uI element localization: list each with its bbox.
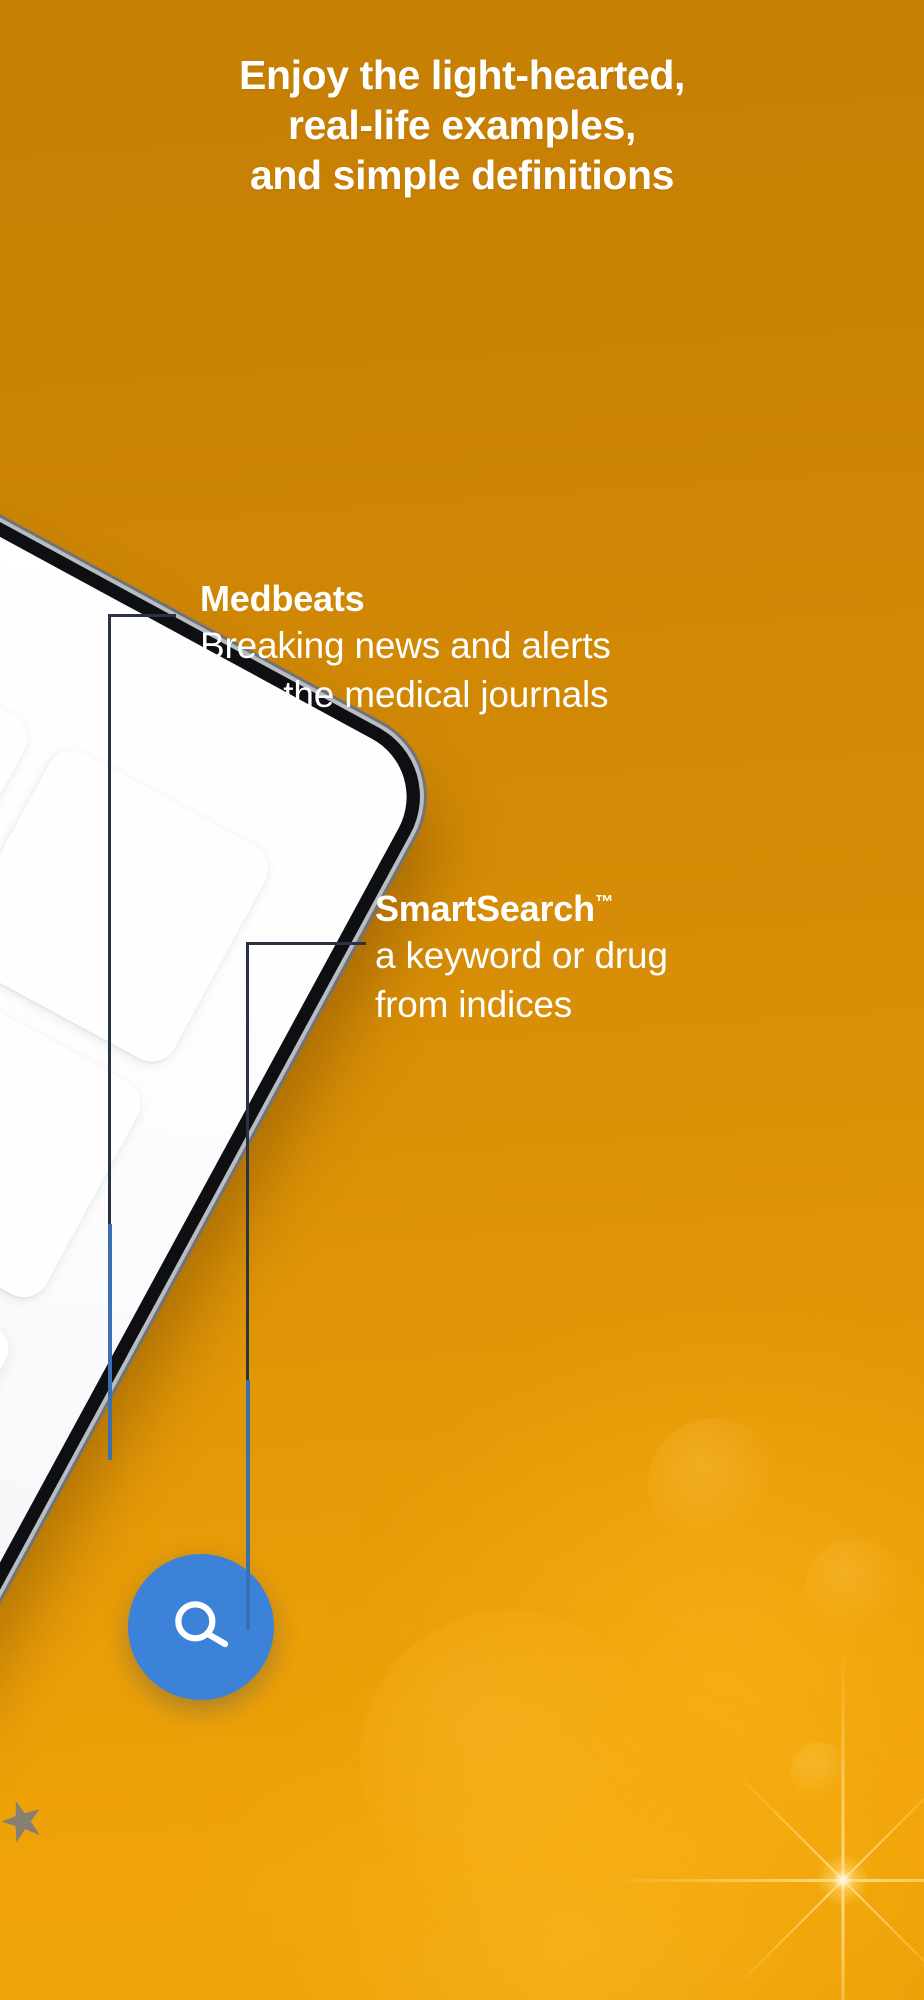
callout-description-line-2: from indices (375, 984, 572, 1025)
promo-screenshot: Enjoy the light-hearted, real-life examp… (0, 0, 924, 2000)
callout-description-line-1: a keyword or drug (375, 935, 668, 976)
callout-medbeats: Medbeats Breaking news and alerts from t… (200, 578, 720, 720)
leader-line-medbeats-vertical (108, 614, 111, 1224)
leader-line-smartsearch-blue (246, 1380, 250, 1630)
callout-title-text: Medbeats (200, 578, 364, 619)
callout-smartsearch: SmartSearch™ a keyword or drug from indi… (375, 888, 795, 1030)
leader-line-smartsearch-vertical (246, 942, 249, 1380)
background-orb (648, 1418, 780, 1550)
background-orb (360, 1610, 660, 1910)
headline-line-2: real-life examples, (0, 100, 924, 150)
leader-line-medbeats-horizontal (110, 614, 176, 617)
callout-description: a keyword or drug from indices (375, 932, 795, 1030)
leader-line-medbeats-blue (108, 1224, 112, 1460)
background-orb (806, 1538, 902, 1634)
headline-line-1: Enjoy the light-hearted, (0, 50, 924, 100)
callout-title: Medbeats (200, 578, 720, 620)
callout-description-line-1: Breaking news and alerts (200, 625, 611, 666)
callout-description: Breaking news and alerts from the medica… (200, 622, 720, 720)
callout-title-text: SmartSearch (375, 888, 595, 929)
callout-description-line-2: from the medical journals (200, 674, 608, 715)
page-title: Enjoy the light-hearted, real-life examp… (0, 50, 924, 200)
trademark-symbol: ™ (595, 891, 614, 912)
leader-line-smartsearch-horizontal (248, 942, 366, 945)
headline-line-3: and simple definitions (0, 150, 924, 200)
callout-title: SmartSearch™ (375, 888, 795, 930)
background-orb (790, 1742, 848, 1800)
search-fab-button[interactable] (128, 1554, 274, 1700)
search-icon (167, 1593, 235, 1661)
tile-secondary[interactable] (0, 741, 278, 1071)
